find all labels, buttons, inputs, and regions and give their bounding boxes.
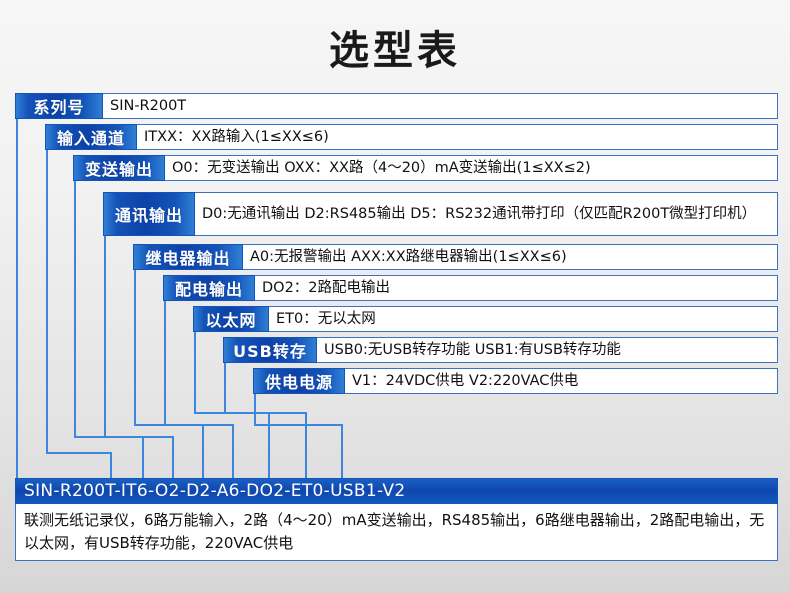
option-row-value: O0：无变送输出 OXX：XX路（4～20）mA变送输出(1≤XX≤2) xyxy=(165,155,778,181)
option-row: 变送输出O0：无变送输出 OXX：XX路（4～20）mA变送输出(1≤XX≤2) xyxy=(73,155,778,181)
option-row: 继电器输出A0:无报警输出 AXX:XX路继电器输出(1≤XX≤6) xyxy=(133,244,778,270)
option-row-label: 供电电源 xyxy=(253,368,345,394)
connector-segment xyxy=(74,181,76,436)
connector-segment xyxy=(305,412,307,478)
option-row: 输入通道ITXX：XX路输入(1≤XX≤6) xyxy=(45,124,778,150)
connector-segment xyxy=(164,301,166,424)
connector-segment xyxy=(268,412,270,478)
connector-segment xyxy=(134,270,136,424)
option-row-label: 通讯输出 xyxy=(103,192,195,236)
connector-segment xyxy=(16,452,18,478)
option-row: 系列号SIN-R200T xyxy=(15,93,778,119)
connector-segment xyxy=(224,363,226,412)
option-row-value: A0:无报警输出 AXX:XX路继电器输出(1≤XX≤6) xyxy=(243,244,778,270)
connector-segment xyxy=(142,436,144,478)
connector-segment xyxy=(232,424,234,478)
summary-description: 联测无纸记录仪，6路万能输入，2路（4～20）mA变送输出，RS485输出，6路… xyxy=(15,504,778,561)
option-row-value: SIN-R200T xyxy=(103,93,778,119)
connector-segment xyxy=(46,452,112,454)
connector-segment xyxy=(341,424,343,478)
selection-table-page: 选型表 系列号SIN-R200T输入通道ITXX：XX路输入(1≤XX≤6)变送… xyxy=(0,0,790,593)
page-title: 选型表 xyxy=(0,18,790,76)
option-row: USB转存USB0:无USB转存功能 USB1:有USB转存功能 xyxy=(223,337,778,363)
option-row-label: 系列号 xyxy=(15,93,103,119)
summary-model-code: SIN-R200T-IT6-O2-D2-A6-DO2-ET0-USB1-V2 xyxy=(15,478,778,504)
connector-segment xyxy=(224,412,307,414)
option-row-label: 以太网 xyxy=(193,306,269,332)
connector-segment xyxy=(16,119,18,452)
connector-segment xyxy=(110,452,112,478)
option-row-value: D0:无通讯输出 D2:RS485输出 D5：RS232通讯带打印（仅匹配R20… xyxy=(195,192,778,236)
connector-segment xyxy=(46,150,48,452)
connector-segment xyxy=(194,332,196,412)
connector-segment xyxy=(172,436,174,478)
option-row-label: 配电输出 xyxy=(163,275,255,301)
connector-segment xyxy=(104,236,106,436)
option-row-value: USB0:无USB转存功能 USB1:有USB转存功能 xyxy=(317,337,778,363)
option-row-value: ITXX：XX路输入(1≤XX≤6) xyxy=(137,124,778,150)
summary-block: SIN-R200T-IT6-O2-D2-A6-DO2-ET0-USB1-V2 联… xyxy=(15,478,778,561)
option-row: 以太网ET0：无以太网 xyxy=(193,306,778,332)
option-row-label: 变送输出 xyxy=(73,155,165,181)
option-row: 通讯输出D0:无通讯输出 D2:RS485输出 D5：RS232通讯带打印（仅匹… xyxy=(103,192,778,236)
connector-segment xyxy=(164,424,234,426)
option-row-label: USB转存 xyxy=(223,337,317,363)
option-row-value: V1：24VDC供电 V2:220VAC供电 xyxy=(345,368,778,394)
connector-segment xyxy=(104,436,174,438)
option-row-value: ET0：无以太网 xyxy=(269,306,778,332)
connector-segment xyxy=(254,394,256,424)
option-row-label: 输入通道 xyxy=(45,124,137,150)
connector-segment xyxy=(202,424,204,478)
option-row-label: 继电器输出 xyxy=(133,244,243,270)
option-row: 配电输出DO2：2路配电输出 xyxy=(163,275,778,301)
option-row-value: DO2：2路配电输出 xyxy=(255,275,778,301)
option-row: 供电电源V1：24VDC供电 V2:220VAC供电 xyxy=(253,368,778,394)
connector-segment xyxy=(254,424,343,426)
